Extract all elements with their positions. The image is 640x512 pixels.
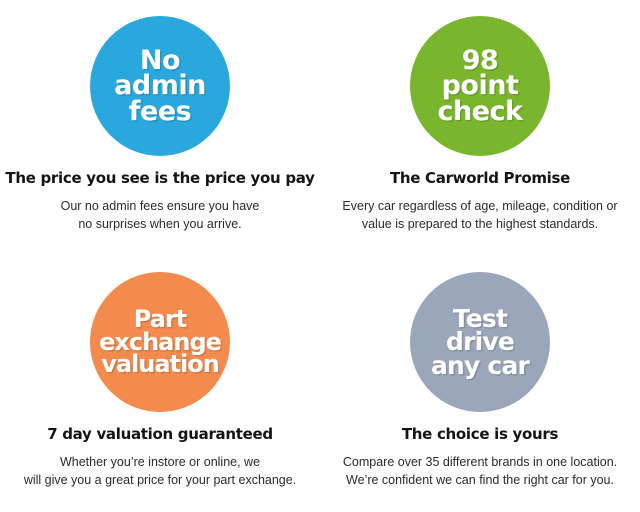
badge-label: No admin fees (114, 48, 206, 124)
card-headline: 7 day valuation guaranteed (47, 426, 273, 443)
benefit-card-98-point-check: 98 point check The Carworld Promise Ever… (320, 0, 640, 256)
card-headline: The choice is yours (402, 426, 558, 443)
badge-circle-test-drive-any-car: Test drive any car (410, 272, 550, 412)
badge-circle-part-exchange-valuation: Part exchange valuation (90, 272, 230, 412)
benefit-card-no-admin-fees: No admin fees The price you see is the p… (0, 0, 320, 256)
card-body-text: Our no admin fees ensure you have no sur… (61, 197, 260, 233)
benefits-grid: No admin fees The price you see is the p… (0, 0, 640, 512)
badge-label: Test drive any car (431, 307, 529, 378)
benefit-card-test-drive-any-car: Test drive any car The choice is yours C… (320, 256, 640, 512)
card-body-text: Every car regardless of age, mileage, co… (342, 197, 617, 233)
card-body-text: Compare over 35 different brands in one … (343, 453, 617, 489)
badge-circle-98-point-check: 98 point check (410, 16, 550, 156)
badge-circle-no-admin-fees: No admin fees (90, 16, 230, 156)
card-headline: The price you see is the price you pay (5, 170, 314, 187)
benefit-card-part-exchange-valuation: Part exchange valuation 7 day valuation … (0, 256, 320, 512)
badge-label: 98 point check (438, 48, 523, 124)
card-body-text: Whether you’re instore or online, we wil… (24, 453, 296, 489)
badge-label: Part exchange valuation (99, 308, 221, 376)
card-headline: The Carworld Promise (390, 170, 570, 187)
